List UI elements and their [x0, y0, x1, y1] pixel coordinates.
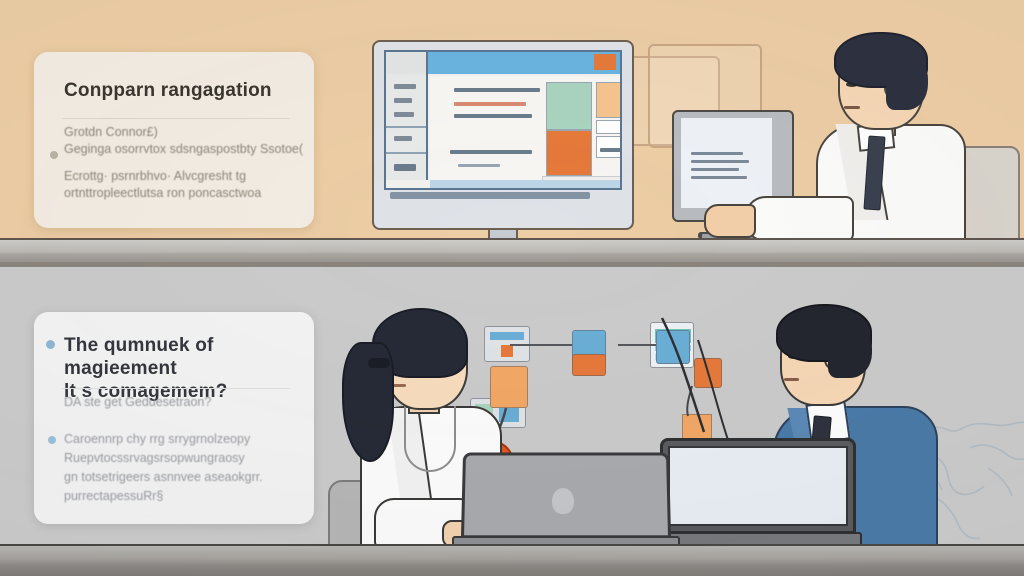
dark-laptop[interactable] [648, 438, 862, 550]
man-white-coat-typing [800, 28, 1010, 264]
sidebar-chip[interactable] [394, 84, 416, 89]
topbar-chip-orange [594, 54, 616, 70]
content-line [450, 150, 532, 154]
topbar-tab[interactable] [386, 52, 428, 74]
desk-edge [0, 262, 1024, 267]
card-bottom-heading: The qumnuek of magieement lt s comagemem… [64, 334, 298, 403]
desktop-monitor-dashboard[interactable] [372, 40, 634, 230]
card-top-body-1: Grotdn Connor£) Geginga osorrvtox sdsnga… [64, 124, 304, 158]
document-line [691, 152, 743, 155]
callout-card-bottom: The qumnuek of magieement lt s comagemem… [34, 312, 314, 524]
tile-orange[interactable] [546, 130, 592, 176]
card-bottom-body-2: Caroennrp chy rrg srrygrnolzeopy Ruepvto… [64, 430, 294, 506]
mouth [784, 378, 799, 381]
app-bottombar [430, 180, 620, 188]
content-line [454, 88, 540, 92]
app-topbar [386, 52, 620, 74]
bullet-dot-icon [50, 151, 58, 159]
app-sidebar[interactable] [386, 74, 428, 180]
monitor-screen [681, 118, 772, 208]
mouth [844, 106, 860, 109]
tile-peach[interactable] [596, 82, 622, 118]
document-line [691, 176, 747, 179]
document-line [691, 168, 739, 171]
arm [744, 196, 854, 242]
monitor-chin-bar [390, 192, 590, 199]
card-divider [62, 388, 290, 389]
tile-row[interactable] [596, 136, 622, 158]
callout-card-top: Conpparn rangagation Grotdn Connor£) Geg… [34, 52, 314, 228]
hair-side [828, 328, 872, 378]
sidebar-chip[interactable] [394, 136, 412, 141]
bullet-dot-blue-icon-2 [48, 436, 56, 444]
content-line-accent [454, 102, 526, 106]
laptop-logo [552, 488, 574, 514]
tile-mint[interactable] [546, 82, 592, 130]
hair-band [368, 358, 390, 368]
app-content [430, 76, 620, 180]
laptop-screen [668, 446, 848, 526]
hand [704, 204, 756, 238]
illustration-canvas: Conpparn rangagation Grotdn Connor£) Geg… [0, 0, 1024, 576]
sidebar-divider [386, 152, 426, 154]
card-top-heading: Conpparn rangagation [64, 80, 296, 102]
hair-side [886, 58, 928, 110]
monitor-screen [384, 50, 622, 190]
content-line [458, 164, 500, 167]
content-line [454, 114, 532, 118]
sidebar-chip-active[interactable] [394, 164, 416, 171]
card-top-body-2: Ecrottg· psrnrbhvo· Alvcgresht tg ortntt… [64, 168, 300, 202]
card-divider [62, 118, 290, 119]
desk-surface-bottom [0, 544, 1024, 576]
stethoscope [404, 406, 456, 472]
content-line [600, 148, 622, 152]
tile-row[interactable] [596, 120, 622, 134]
card-bottom-body-1: DA ste get Geduesetraon? [64, 394, 294, 411]
sidebar-divider [386, 126, 426, 128]
sidebar-chip[interactable] [394, 98, 412, 103]
bullet-dot-blue-icon [46, 340, 55, 349]
silver-laptop[interactable] [452, 452, 680, 548]
sidebar-chip[interactable] [394, 112, 414, 117]
document-line [691, 160, 749, 163]
mouth [392, 384, 406, 387]
